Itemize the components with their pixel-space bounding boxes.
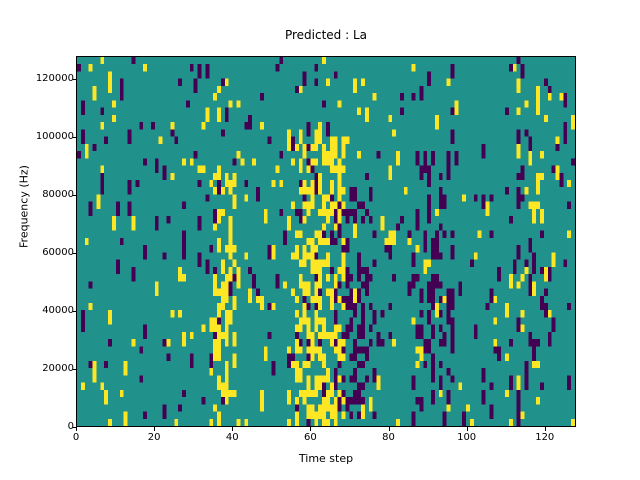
y-tick-mark <box>73 369 77 370</box>
y-tick-label: 20000 <box>0 364 74 374</box>
x-tick-label: 0 <box>46 432 106 444</box>
x-tick-label: 20 <box>124 432 184 444</box>
y-tick-mark <box>73 311 77 312</box>
y-tick-label: 60000 <box>0 248 74 258</box>
x-axis-label: Time step <box>76 452 576 465</box>
chart-title: Predicted : La <box>76 28 576 42</box>
y-tick-label: 0 <box>0 422 74 432</box>
matplotlib-figure: Predicted : La Frequency (Hz) Time step … <box>0 0 640 480</box>
heatmap-image <box>77 57 575 426</box>
x-tick-label: 120 <box>515 432 575 444</box>
x-tick-mark <box>76 427 77 431</box>
x-tick-mark <box>310 427 311 431</box>
x-tick-mark <box>154 427 155 431</box>
y-tick-label: 120000 <box>0 74 74 84</box>
x-tick-mark <box>389 427 390 431</box>
y-tick-mark <box>73 79 77 80</box>
x-tick-label: 80 <box>359 432 419 444</box>
y-tick-mark <box>73 195 77 196</box>
y-tick-mark <box>73 137 77 138</box>
y-tick-mark <box>73 253 77 254</box>
x-tick-mark <box>232 427 233 431</box>
x-tick-mark <box>467 427 468 431</box>
y-tick-label: 40000 <box>0 306 74 316</box>
x-tick-label: 60 <box>280 432 340 444</box>
x-tick-label: 100 <box>437 432 497 444</box>
y-tick-label: 80000 <box>0 190 74 200</box>
y-tick-label: 100000 <box>0 132 74 142</box>
x-tick-label: 40 <box>202 432 262 444</box>
heatmap-plot-area <box>76 56 576 427</box>
x-tick-mark <box>545 427 546 431</box>
